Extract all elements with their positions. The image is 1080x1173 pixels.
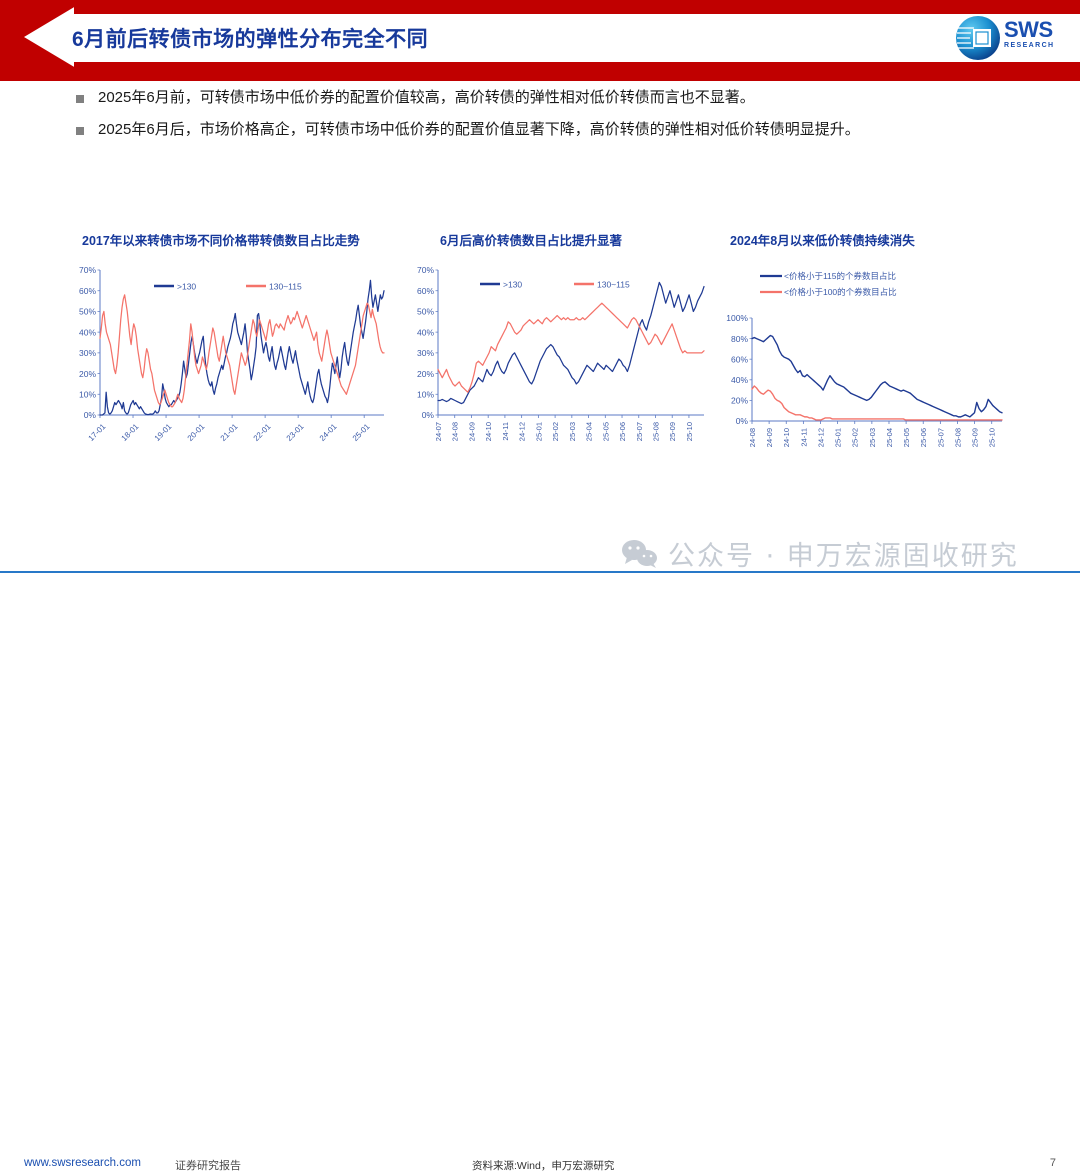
y-axis-tick-label: 40% (79, 327, 96, 337)
slide-header: 6月前后转债市场的弹性分布完全不同 SWS RE (0, 0, 1080, 78)
sws-logo-mark-icon (954, 14, 1002, 62)
y-axis-tick-label: 60% (417, 286, 434, 296)
x-axis-tick-label: 24-08 (748, 428, 757, 447)
x-axis-tick-label: 25-02 (851, 428, 860, 447)
bullet-text: 2025年6月前，可转债市场中低价券的配置价值较高，高价转债的弹性相对低价转债而… (98, 88, 755, 108)
x-axis-tick-label: 25-06 (919, 428, 928, 447)
chart2: 0%10%20%30%40%50%60%70%24-0724-0824-0924… (402, 262, 712, 467)
x-axis-tick-label: 25-08 (953, 428, 962, 447)
y-axis-tick-label: 0% (422, 410, 435, 420)
y-axis-tick-label: 60% (731, 354, 748, 364)
footer-source-note: 资料来源:Wind，申万宏源研究 (472, 1158, 614, 1173)
y-axis-tick-label: 60% (79, 286, 96, 296)
y-axis-tick-label: 0% (736, 416, 749, 426)
bullet-square-icon (76, 127, 84, 135)
chart1: 0%10%20%30%40%50%60%70%17-0118-0119-0120… (62, 262, 392, 467)
y-axis-tick-label: 70% (417, 265, 434, 275)
y-axis-tick-label: 20% (417, 369, 434, 379)
y-axis-tick-label: 30% (417, 348, 434, 358)
footer-website-link[interactable]: www.swsresearch.com (24, 1157, 141, 1169)
legend-label: 130~115 (269, 281, 302, 291)
y-axis-tick-label: 10% (79, 389, 96, 399)
chart2-plot: 0%10%20%30%40%50%60%70%24-0724-0824-0924… (402, 262, 712, 467)
x-axis-tick-label: 25-03 (868, 428, 877, 447)
x-axis-tick-label: 24-10 (484, 422, 493, 441)
x-axis-tick-label: 19-01 (153, 422, 174, 443)
x-axis-tick-label: 25-04 (885, 428, 894, 447)
x-axis-tick-label: 24-11 (501, 422, 510, 441)
series-line (752, 336, 1002, 417)
x-axis-tick-label: 25-08 (651, 422, 660, 441)
legend-label: >130 (177, 281, 196, 291)
y-axis-tick-label: 20% (731, 396, 748, 406)
chart1-plot: 0%10%20%30%40%50%60%70%17-0118-0119-0120… (62, 262, 392, 467)
bullet-list: 2025年6月前，可转债市场中低价券的配置价值较高，高价转债的弹性相对低价转债而… (0, 88, 1080, 152)
x-axis-tick-label: 18-01 (120, 422, 141, 443)
sws-research-logo: SWS RESEARCH (954, 12, 1062, 64)
x-axis-tick-label: 25-01 (534, 422, 543, 441)
watermark-text: 公众号 · 申万宏源固收研究 (668, 534, 1019, 573)
x-axis-tick-label: 25-03 (568, 422, 577, 441)
bullet-item: 2025年6月前，可转债市场中低价券的配置价值较高，高价转债的弹性相对低价转债而… (0, 88, 1080, 108)
bullet-square-icon (76, 95, 84, 103)
x-axis-tick-label: 25-10 (685, 422, 694, 441)
y-axis-tick-label: 0% (84, 410, 97, 420)
x-axis-tick-label: 24-09 (467, 422, 476, 441)
legend-label: <价格小于100的个券数目占比 (784, 287, 897, 297)
x-axis-tick-label: 20-01 (186, 422, 207, 443)
chart1-title: 2017年以来转债市场不同价格带转债数目占比走势 (82, 230, 360, 249)
y-axis-tick-label: 50% (417, 307, 434, 317)
y-axis-tick-label: 50% (79, 307, 96, 317)
slide-footer: www.swsresearch.com 证券研究报告 资料来源:Wind，申万宏… (0, 573, 1080, 608)
series-line (438, 282, 704, 403)
x-axis-tick-label: 25-10 (988, 428, 997, 447)
x-axis-tick-label: 25-04 (585, 422, 594, 441)
x-axis-tick-label: 24-12 (518, 422, 527, 441)
x-axis-tick-label: 25-07 (936, 428, 945, 447)
x-axis-tick-label: 25-09 (971, 428, 980, 447)
y-axis-tick-label: 100% (726, 313, 748, 323)
x-axis-tick-label: 22-01 (252, 422, 273, 443)
header-top-bar (74, 0, 1080, 14)
chart3: 0%20%40%60%80%100%24-0824-0924-1024-1124… (712, 262, 1012, 477)
logo-brand: SWS (1004, 19, 1054, 41)
x-axis-tick-label: 25-09 (668, 422, 677, 441)
x-axis-tick-label: 24-09 (765, 428, 774, 447)
x-axis-tick-label: 17-01 (87, 422, 108, 443)
watermark: 公众号 · 申万宏源固收研究 (620, 530, 1060, 576)
logo-subtitle: RESEARCH (1004, 41, 1054, 51)
x-axis-tick-label: 24-01 (318, 422, 339, 443)
y-axis-tick-label: 30% (79, 348, 96, 358)
y-axis-tick-label: 80% (731, 334, 748, 344)
y-axis-tick-label: 20% (79, 369, 96, 379)
y-axis-tick-label: 40% (417, 327, 434, 337)
y-axis-tick-label: 10% (417, 389, 434, 399)
x-axis-tick-label: 25-05 (902, 428, 911, 447)
x-axis-tick-label: 21-01 (219, 422, 240, 443)
series-line (100, 295, 384, 407)
bullet-text: 2025年6月后，市场价格高企，可转债市场中低价券的配置价值显著下降，高价转债的… (98, 120, 860, 140)
x-axis-tick-label: 24-11 (799, 428, 808, 447)
page-title: 6月前后转债市场的弹性分布完全不同 (72, 23, 772, 57)
chart2-title: 6月后高价转债数目占比提升显著 (440, 230, 622, 249)
x-axis-tick-label: 25-07 (635, 422, 644, 441)
x-axis-tick-label: 25-06 (618, 422, 627, 441)
y-axis-tick-label: 40% (731, 375, 748, 385)
x-axis-tick-label: 24-08 (451, 422, 460, 441)
legend-label: >130 (503, 279, 522, 289)
y-axis-tick-label: 70% (79, 265, 96, 275)
x-axis-tick-label: 25-01 (351, 422, 372, 443)
header-bottom-bar (74, 62, 1080, 74)
x-axis-tick-label: 25-02 (551, 422, 560, 441)
footer-report-label: 证券研究报告 (175, 1157, 241, 1173)
chart3-title: 2024年8月以来低价转债持续消失 (730, 230, 915, 249)
header-red-rule (0, 74, 1080, 81)
legend-label: <价格小于115的个券数目占比 (784, 271, 896, 281)
x-axis-tick-label: 25-01 (834, 428, 843, 447)
bullet-item: 2025年6月后，市场价格高企，可转债市场中低价券的配置价值显著下降，高价转债的… (0, 120, 1080, 140)
x-axis-tick-label: 25-05 (601, 422, 610, 441)
footer-page-number: 7 (1050, 1157, 1056, 1169)
x-axis-tick-label: 23-01 (285, 422, 306, 443)
wechat-icon (620, 538, 660, 568)
x-axis-tick-label: 24-07 (434, 422, 443, 441)
legend-label: 130~115 (597, 279, 630, 289)
series-line (100, 280, 384, 415)
x-axis-tick-label: 24-12 (816, 428, 825, 447)
chart3-plot: 0%20%40%60%80%100%24-0824-0924-1024-1124… (712, 262, 1012, 477)
sws-logo-text: SWS RESEARCH (1004, 19, 1054, 51)
x-axis-tick-label: 24-10 (782, 428, 791, 447)
